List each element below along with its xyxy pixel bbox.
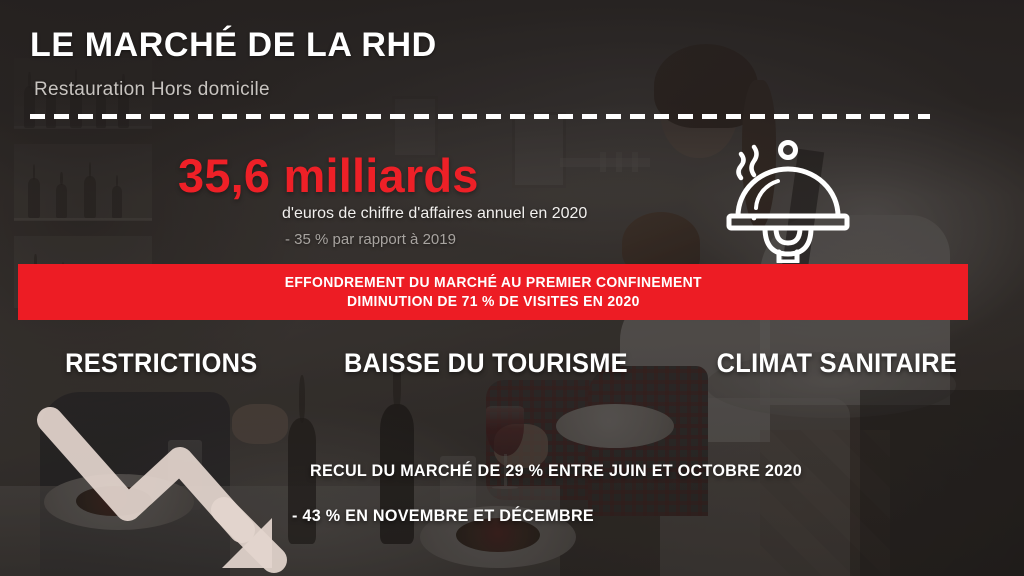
slide-content: LE MARCHÉ DE LA RHD Restauration Hors do… [0,0,1024,576]
headline-value: 35,6 milliards [178,151,479,200]
page-subtitle: Restauration Hors domicile [34,79,270,101]
category-baisse-du-tourisme: BAISSE DU TOURISME [344,348,628,379]
dashed-divider [30,114,930,119]
category-row: RESTRICTIONS BAISSE DU TOURISME CLIMAT S… [0,348,1024,379]
headline-comparison: - 35 % par rapport à 2019 [285,231,456,248]
downward-trend-arrow-icon [28,398,298,576]
page-title: LE MARCHÉ DE LA RHD [30,28,437,62]
footer-line-1: RECUL DU MARCHÉ DE 29 % ENTRE JUIN ET OC… [310,461,802,481]
infographic-slide: LE MARCHÉ DE LA RHD Restauration Hors do… [0,0,1024,576]
category-climat-sanitaire: CLIMAT SANITAIRE [717,348,957,379]
footer-line-2: - 43 % EN NOVEMBRE ET DÉCEMBRE [292,506,594,526]
alert-banner-line-1: EFFONDREMENT DU MARCHÉ AU PREMIER CONFIN… [284,274,701,291]
category-restrictions: RESTRICTIONS [65,348,257,379]
alert-banner: EFFONDREMENT DU MARCHÉ AU PREMIER CONFIN… [18,264,968,320]
alert-banner-line-2: DIMINUTION DE 71 % DE VISITES EN 2020 [347,293,640,310]
headline-caption: d'euros de chiffre d'affaires annuel en … [282,205,587,223]
cloche-icon [723,128,853,263]
